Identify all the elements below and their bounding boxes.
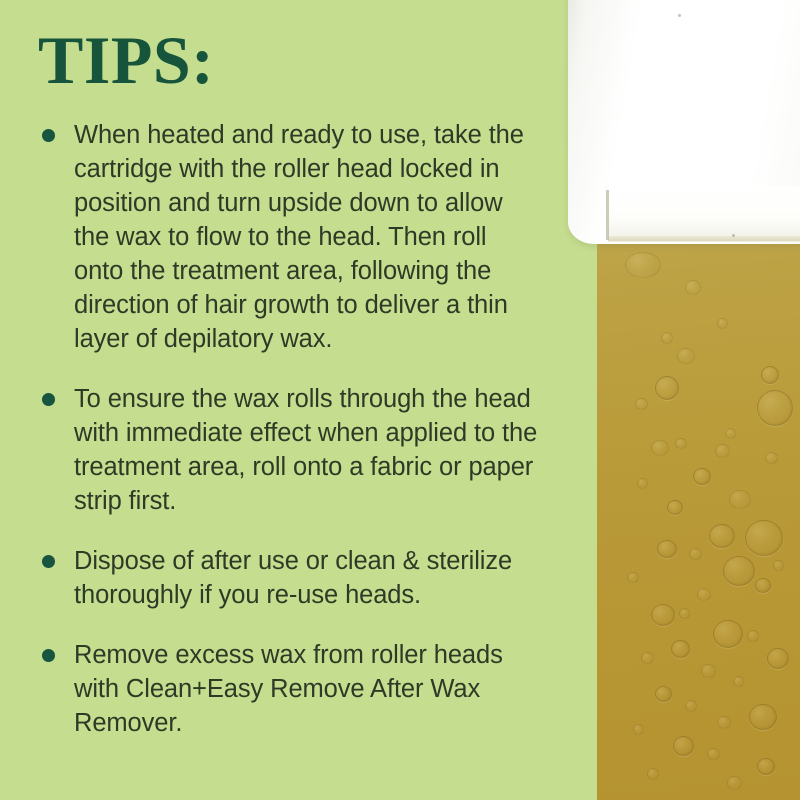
tips-list: When heated and ready to use, take the c… [40,118,540,740]
cartridge-speck [678,14,681,17]
list-item: When heated and ready to use, take the c… [40,118,540,356]
list-item-text: Remove excess wax from roller heads with… [74,641,503,737]
tips-copy-column: TIPS: When heated and ready to use, take… [0,0,560,800]
list-item: Dispose of after use or clean & steriliz… [40,544,540,612]
page-title: TIPS: [38,26,214,94]
list-item: To ensure the wax rolls through the head… [40,382,540,518]
bullet-icon [42,393,55,406]
list-item: Remove excess wax from roller heads with… [40,638,540,740]
tips-infographic: TIPS: When heated and ready to use, take… [0,0,800,800]
list-item-text: When heated and ready to use, take the c… [74,121,524,353]
product-photo [560,0,800,800]
bullet-icon [42,555,55,568]
cartridge-collar-edge [608,236,800,241]
bullet-icon [42,129,55,142]
cartridge-speck [732,234,735,237]
bullet-icon [42,649,55,662]
cartridge-collar-seam [606,190,609,240]
list-item-text: To ensure the wax rolls through the head… [74,385,537,515]
list-item-text: Dispose of after use or clean & steriliz… [74,547,512,609]
cartridge-roller-collar [608,186,800,242]
